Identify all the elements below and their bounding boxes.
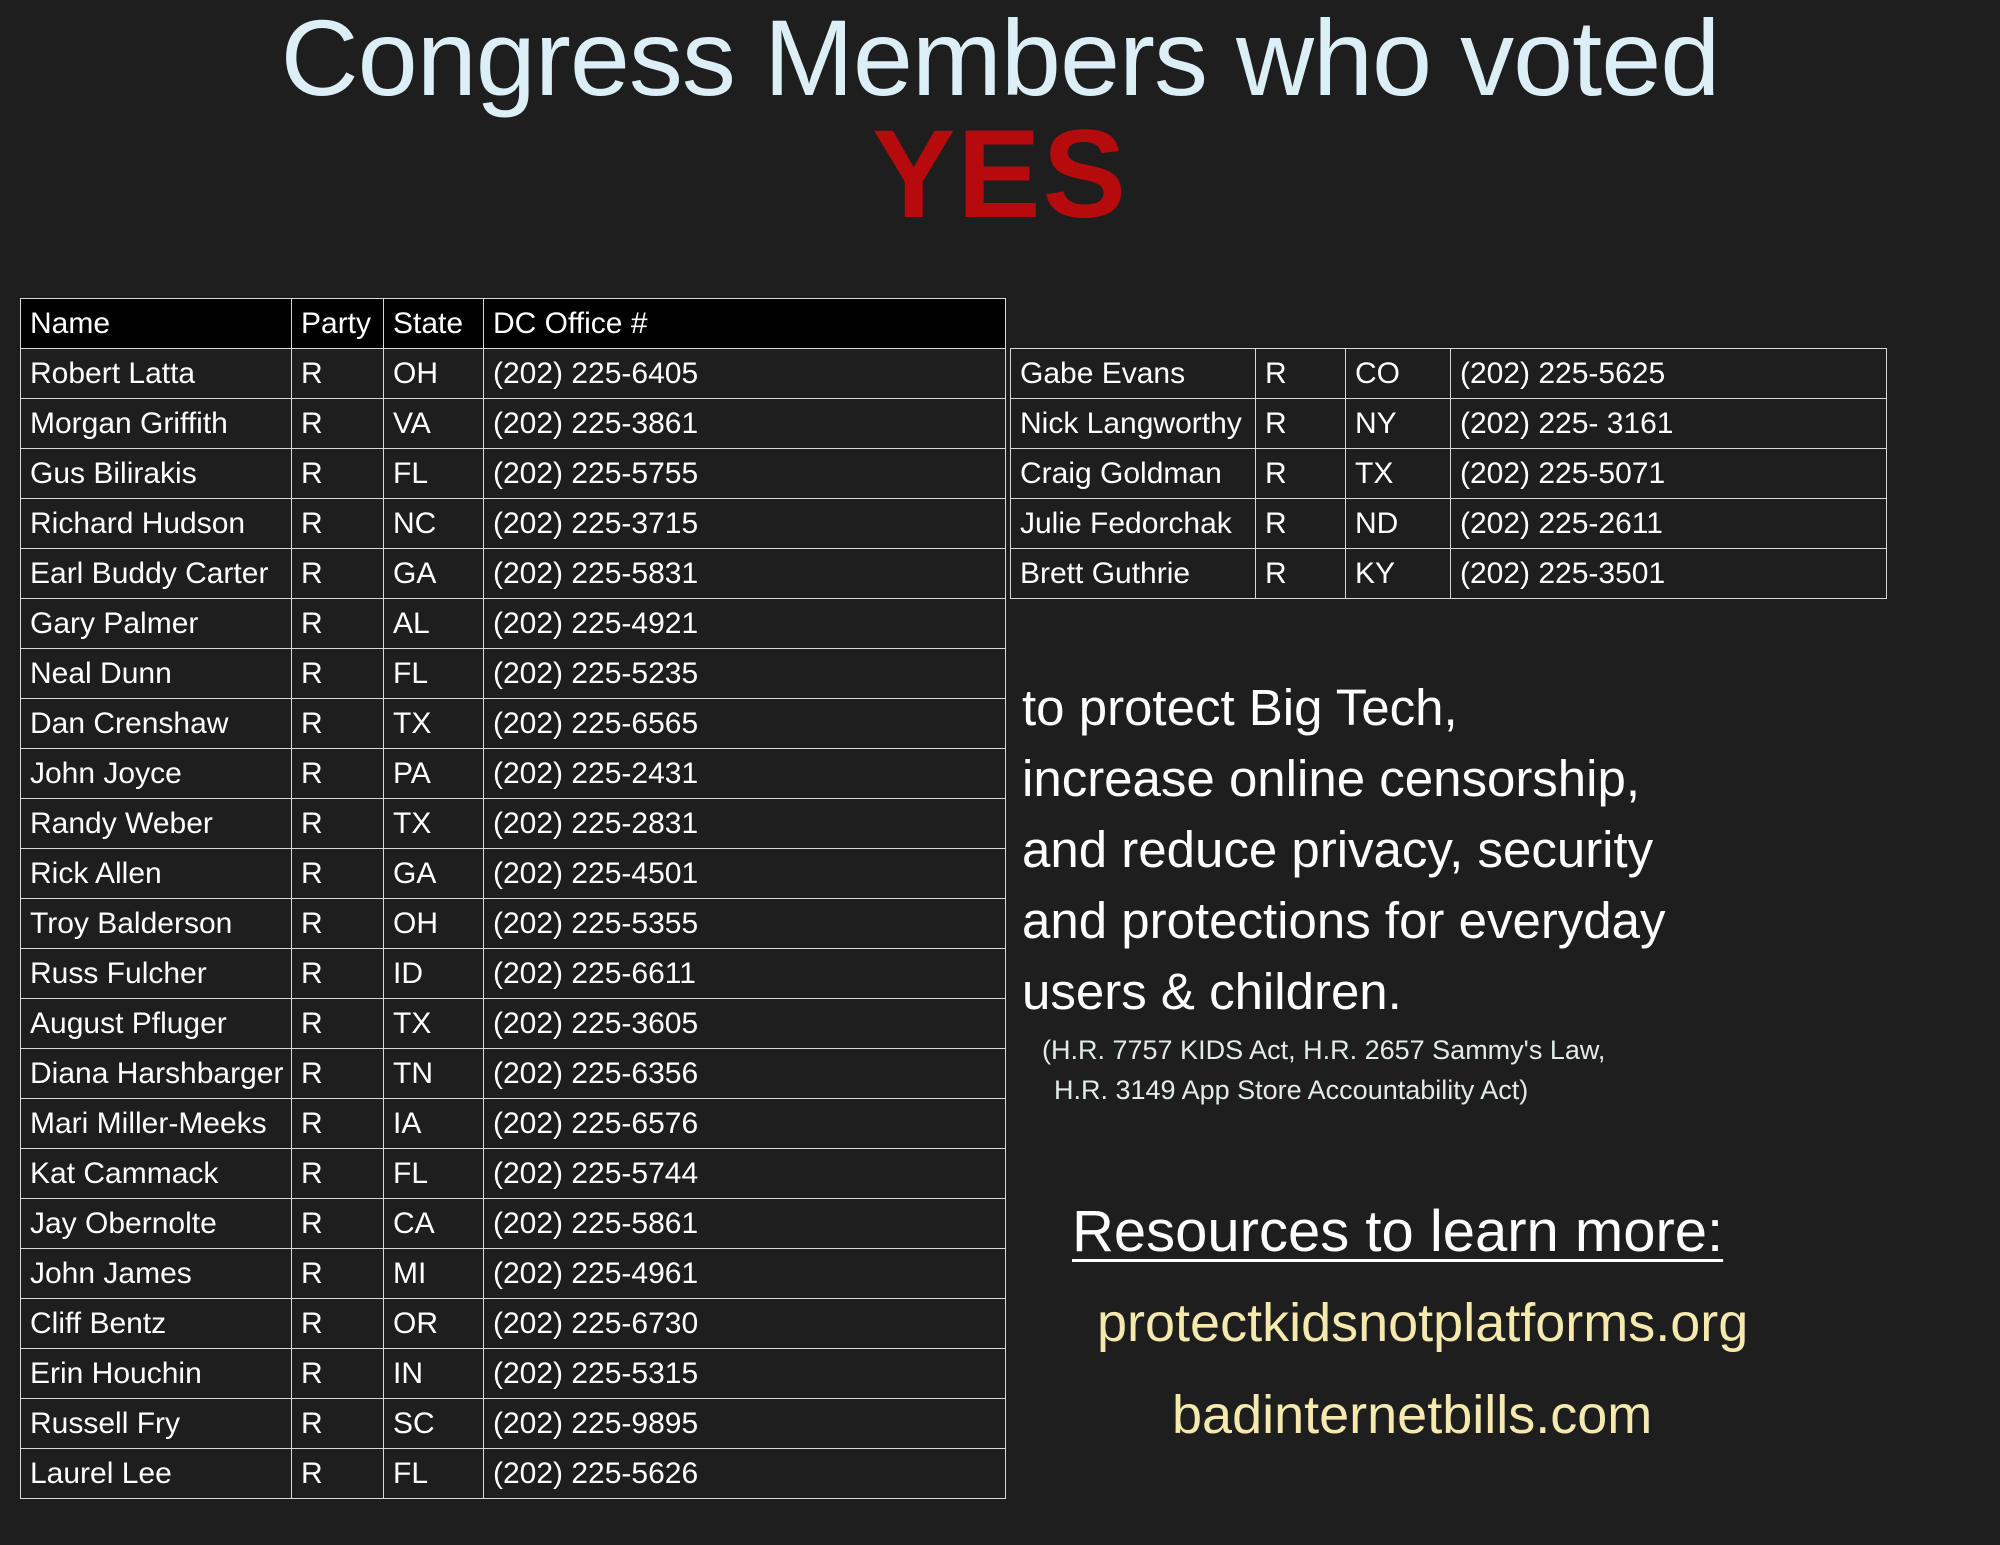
member-party: R — [292, 899, 384, 949]
member-state: NY — [1346, 399, 1451, 449]
member-name: Brett Guthrie — [1011, 549, 1256, 599]
vote-emphasis: YES — [0, 110, 2000, 240]
member-party: R — [292, 699, 384, 749]
blurb-line-2: increase online censorship, — [1022, 743, 1982, 814]
table-body-left: Robert LattaROH(202) 225-6405Morgan Grif… — [21, 349, 1006, 1499]
member-phone: (202) 225-9895 — [484, 1399, 1006, 1449]
member-phone: (202) 225- 3161 — [1451, 399, 1887, 449]
column-header-party: Party — [292, 299, 384, 349]
member-phone: (202) 225-4921 — [484, 599, 1006, 649]
member-phone: (202) 225-6730 — [484, 1299, 1006, 1349]
member-party: R — [1256, 399, 1346, 449]
poster-canvas: Congress Members who voted YES Name Part… — [0, 0, 2000, 1545]
member-state: CO — [1346, 349, 1451, 399]
table-row: Erin HouchinRIN(202) 225-5315 — [21, 1349, 1006, 1399]
table-row: Cliff BentzROR(202) 225-6730 — [21, 1299, 1006, 1349]
table-row: Troy BaldersonROH(202) 225-5355 — [21, 899, 1006, 949]
member-name: August Pfluger — [21, 999, 292, 1049]
member-name: Earl Buddy Carter — [21, 549, 292, 599]
member-state: ID — [384, 949, 484, 999]
member-name: Nick Langworthy — [1011, 399, 1256, 449]
member-state: GA — [384, 849, 484, 899]
member-phone: (202) 225-3715 — [484, 499, 1006, 549]
member-name: Kat Cammack — [21, 1149, 292, 1199]
member-name: Dan Crenshaw — [21, 699, 292, 749]
member-state: AL — [384, 599, 484, 649]
member-party: R — [292, 599, 384, 649]
member-party: R — [292, 449, 384, 499]
member-state: PA — [384, 749, 484, 799]
member-name: Richard Hudson — [21, 499, 292, 549]
table-row: Gabe EvansRCO(202) 225-5625 — [1011, 349, 1887, 399]
member-name: Julie Fedorchak — [1011, 499, 1256, 549]
member-state: IN — [384, 1349, 484, 1399]
member-party: R — [292, 649, 384, 699]
member-state: TN — [384, 1049, 484, 1099]
voted-yes-table-left: Name Party State DC Office # Robert Latt… — [20, 298, 1006, 1499]
member-phone: (202) 225-6405 — [484, 349, 1006, 399]
member-state: MI — [384, 1249, 484, 1299]
table-row: Diana HarshbargerRTN(202) 225-6356 — [21, 1049, 1006, 1099]
member-name: Rick Allen — [21, 849, 292, 899]
member-party: R — [292, 999, 384, 1049]
member-name: Laurel Lee — [21, 1449, 292, 1499]
member-phone: (202) 225-2431 — [484, 749, 1006, 799]
member-party: R — [1256, 349, 1346, 399]
member-name: Gary Palmer — [21, 599, 292, 649]
member-name: Neal Dunn — [21, 649, 292, 699]
table-row: Kat CammackRFL(202) 225-5744 — [21, 1149, 1006, 1199]
member-name: Cliff Bentz — [21, 1299, 292, 1349]
member-name: Gus Bilirakis — [21, 449, 292, 499]
resource-link-badinternetbills[interactable]: badinternetbills.com — [1172, 1382, 1652, 1448]
member-phone: (202) 225-5315 — [484, 1349, 1006, 1399]
member-name: Gabe Evans — [1011, 349, 1256, 399]
member-state: OH — [384, 899, 484, 949]
member-state: NC — [384, 499, 484, 549]
voted-yes-table-right: Gabe EvansRCO(202) 225-5625Nick Langwort… — [1010, 348, 1887, 599]
table-row: Randy WeberRTX(202) 225-2831 — [21, 799, 1006, 849]
member-phone: (202) 225-3861 — [484, 399, 1006, 449]
table-row: Laurel LeeRFL(202) 225-5626 — [21, 1449, 1006, 1499]
member-party: R — [292, 1099, 384, 1149]
member-party: R — [292, 1249, 384, 1299]
blurb-line-5: users & children. — [1022, 956, 1982, 1027]
member-phone: (202) 225-5831 — [484, 549, 1006, 599]
member-phone: (202) 225-5355 — [484, 899, 1006, 949]
member-party: R — [292, 799, 384, 849]
member-phone: (202) 225-5071 — [1451, 449, 1887, 499]
table-row: Earl Buddy CarterRGA(202) 225-5831 — [21, 549, 1006, 599]
member-state: OR — [384, 1299, 484, 1349]
blurb-line-4: and protections for everyday — [1022, 885, 1982, 956]
member-phone: (202) 225-5755 — [484, 449, 1006, 499]
blurb-line-3: and reduce privacy, security — [1022, 814, 1982, 885]
page-title: Congress Members who voted — [0, 2, 2000, 114]
member-name: Randy Weber — [21, 799, 292, 849]
table-row: Russ FulcherRID(202) 225-6611 — [21, 949, 1006, 999]
member-party: R — [1256, 549, 1346, 599]
member-phone: (202) 225-2831 — [484, 799, 1006, 849]
table-row: Gus BilirakisRFL(202) 225-5755 — [21, 449, 1006, 499]
member-party: R — [292, 949, 384, 999]
blurb-text: to protect Big Tech, increase online cen… — [1022, 672, 1982, 1027]
member-party: R — [292, 1449, 384, 1499]
member-name: Jay Obernolte — [21, 1199, 292, 1249]
member-phone: (202) 225-6565 — [484, 699, 1006, 749]
member-party: R — [292, 1149, 384, 1199]
bill-citations: (H.R. 7757 KIDS Act, H.R. 2657 Sammy's L… — [1042, 1030, 1972, 1110]
member-party: R — [292, 1049, 384, 1099]
member-name: Troy Balderson — [21, 899, 292, 949]
member-state: FL — [384, 1149, 484, 1199]
table-row: Brett GuthrieRKY(202) 225-3501 — [1011, 549, 1887, 599]
member-phone: (202) 225-4961 — [484, 1249, 1006, 1299]
member-name: John James — [21, 1249, 292, 1299]
table-body-right: Gabe EvansRCO(202) 225-5625Nick Langwort… — [1011, 349, 1887, 599]
column-header-name: Name — [21, 299, 292, 349]
member-state: TX — [384, 699, 484, 749]
member-party: R — [292, 549, 384, 599]
member-party: R — [292, 849, 384, 899]
table-header-row: Name Party State DC Office # — [21, 299, 1006, 349]
member-name: Mari Miller-Meeks — [21, 1099, 292, 1149]
member-party: R — [292, 1399, 384, 1449]
table-row: Robert LattaROH(202) 225-6405 — [21, 349, 1006, 399]
table-row: Morgan GriffithRVA(202) 225-3861 — [21, 399, 1006, 449]
member-party: R — [292, 349, 384, 399]
member-party: R — [292, 1199, 384, 1249]
member-party: R — [292, 499, 384, 549]
member-name: Russell Fry — [21, 1399, 292, 1449]
resource-link-protectkidsnotplatforms[interactable]: protectkidsnotplatforms.org — [1097, 1290, 1748, 1356]
member-state: CA — [384, 1199, 484, 1249]
member-state: KY — [1346, 549, 1451, 599]
table-row: Craig GoldmanRTX(202) 225-5071 — [1011, 449, 1887, 499]
member-phone: (202) 225-3605 — [484, 999, 1006, 1049]
member-name: Erin Houchin — [21, 1349, 292, 1399]
table-row: Nick LangworthyRNY(202) 225- 3161 — [1011, 399, 1887, 449]
resources-heading: Resources to learn more: — [1072, 1197, 1723, 1267]
member-state: OH — [384, 349, 484, 399]
table-row: August PflugerRTX(202) 225-3605 — [21, 999, 1006, 1049]
member-phone: (202) 225-3501 — [1451, 549, 1887, 599]
member-state: GA — [384, 549, 484, 599]
member-phone: (202) 225-6611 — [484, 949, 1006, 999]
table-row: Gary PalmerRAL(202) 225-4921 — [21, 599, 1006, 649]
column-header-phone: DC Office # — [484, 299, 1006, 349]
table-row: Dan CrenshawRTX(202) 225-6565 — [21, 699, 1006, 749]
member-phone: (202) 225-6576 — [484, 1099, 1006, 1149]
table-row: Mari Miller-MeeksRIA(202) 225-6576 — [21, 1099, 1006, 1149]
table-row: Jay ObernolteRCA(202) 225-5861 — [21, 1199, 1006, 1249]
member-phone: (202) 225-4501 — [484, 849, 1006, 899]
member-state: TX — [1346, 449, 1451, 499]
member-phone: (202) 225-2611 — [1451, 499, 1887, 549]
column-header-state: State — [384, 299, 484, 349]
table-row: Rick AllenRGA(202) 225-4501 — [21, 849, 1006, 899]
member-state: TX — [384, 999, 484, 1049]
member-phone: (202) 225-6356 — [484, 1049, 1006, 1099]
bill-citation-line-1: (H.R. 7757 KIDS Act, H.R. 2657 Sammy's L… — [1042, 1035, 1605, 1065]
member-state: ND — [1346, 499, 1451, 549]
table-row: John JamesRMI(202) 225-4961 — [21, 1249, 1006, 1299]
table-row: Neal DunnRFL(202) 225-5235 — [21, 649, 1006, 699]
member-state: IA — [384, 1099, 484, 1149]
member-phone: (202) 225-5744 — [484, 1149, 1006, 1199]
member-party: R — [292, 749, 384, 799]
member-state: VA — [384, 399, 484, 449]
member-name: Diana Harshbarger — [21, 1049, 292, 1099]
member-state: FL — [384, 1449, 484, 1499]
member-party: R — [292, 399, 384, 449]
member-phone: (202) 225-5861 — [484, 1199, 1006, 1249]
member-name: John Joyce — [21, 749, 292, 799]
member-phone: (202) 225-5626 — [484, 1449, 1006, 1499]
member-party: R — [292, 1299, 384, 1349]
table-row: John JoyceRPA(202) 225-2431 — [21, 749, 1006, 799]
member-state: FL — [384, 449, 484, 499]
table-row: Julie FedorchakRND(202) 225-2611 — [1011, 499, 1887, 549]
member-name: Craig Goldman — [1011, 449, 1256, 499]
member-name: Russ Fulcher — [21, 949, 292, 999]
member-name: Robert Latta — [21, 349, 292, 399]
bill-citation-line-2: H.R. 3149 App Store Accountability Act) — [1042, 1070, 1972, 1110]
member-phone: (202) 225-5235 — [484, 649, 1006, 699]
member-party: R — [292, 1349, 384, 1399]
member-party: R — [1256, 449, 1346, 499]
blurb-line-1: to protect Big Tech, — [1022, 672, 1982, 743]
member-state: TX — [384, 799, 484, 849]
member-party: R — [1256, 499, 1346, 549]
member-phone: (202) 225-5625 — [1451, 349, 1887, 399]
member-state: SC — [384, 1399, 484, 1449]
table-row: Richard HudsonRNC(202) 225-3715 — [21, 499, 1006, 549]
table-row: Russell FryRSC(202) 225-9895 — [21, 1399, 1006, 1449]
member-state: FL — [384, 649, 484, 699]
member-name: Morgan Griffith — [21, 399, 292, 449]
